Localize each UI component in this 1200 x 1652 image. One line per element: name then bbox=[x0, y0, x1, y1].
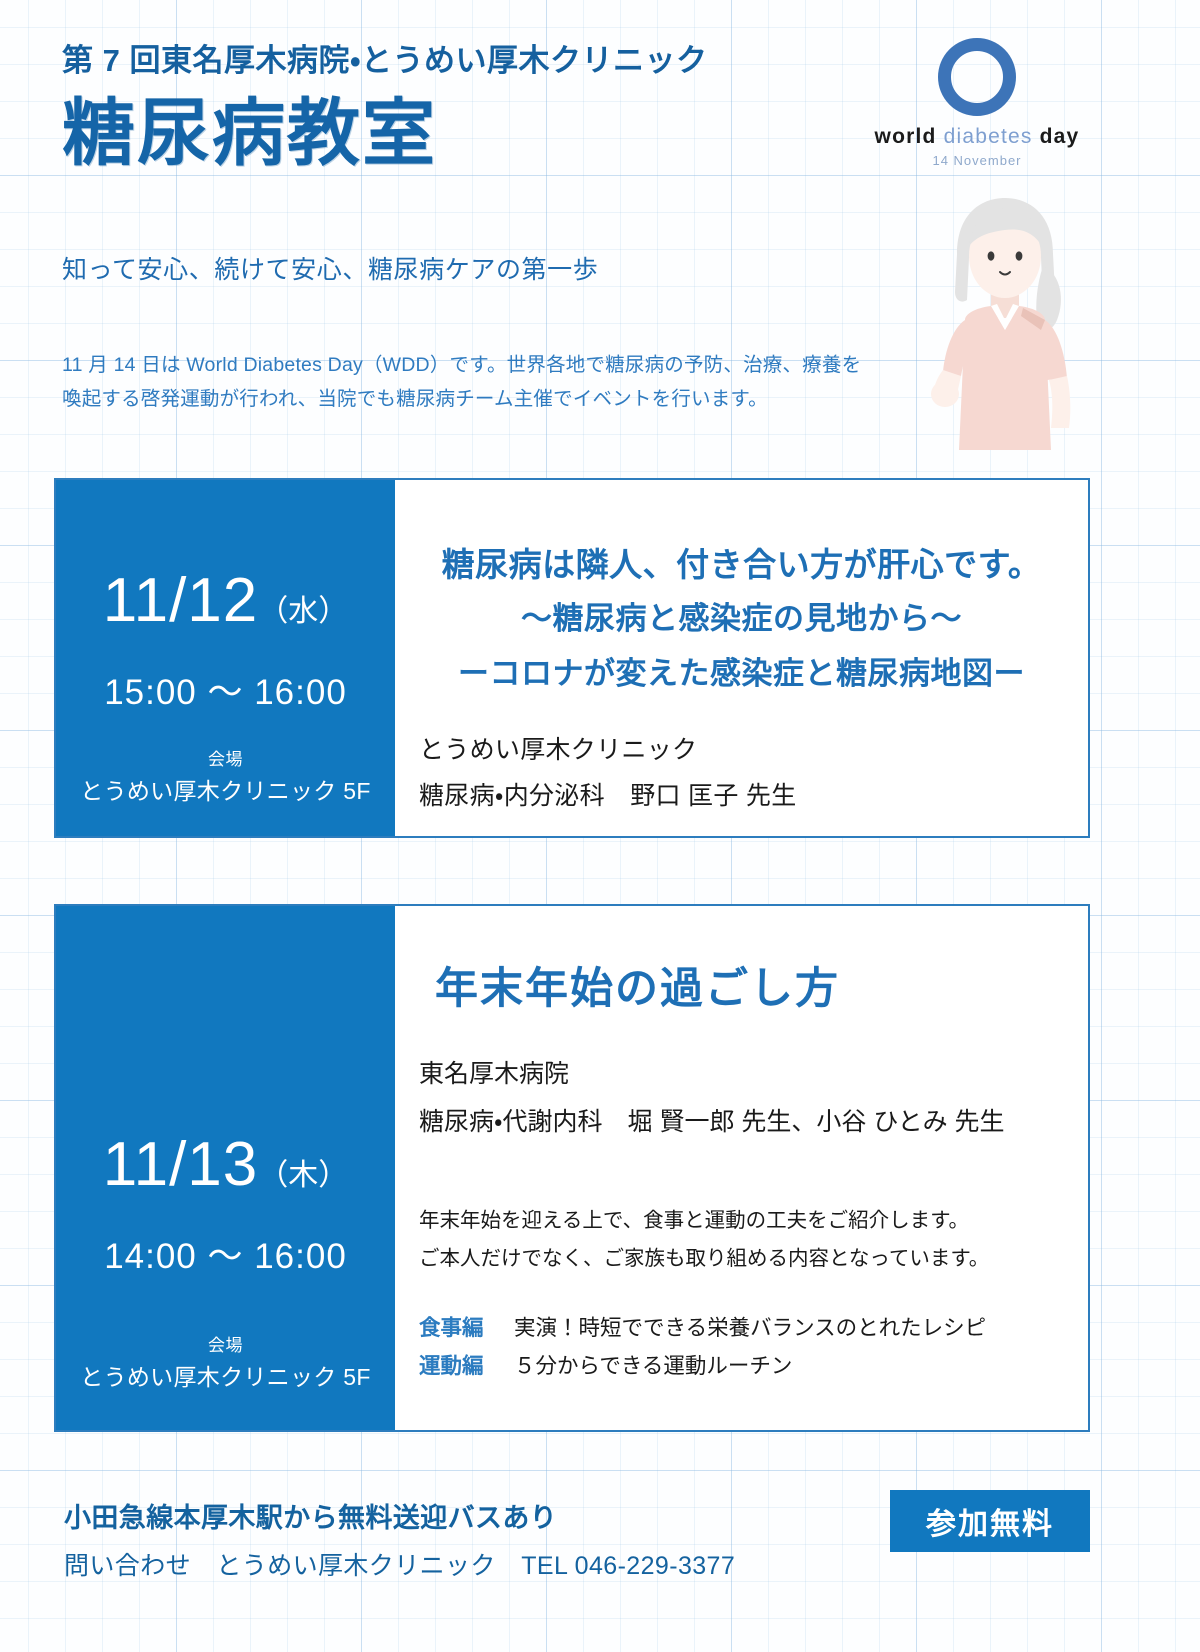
event-card-1: 11/12（水） 15:00 ～ 16:00 会場 とうめい厚木クリニック 5F… bbox=[54, 478, 1090, 838]
poster-root: 第 7 回東名厚木病院・とうめい厚木クリニック 糖尿病教室 知って安心、続けて安… bbox=[0, 0, 1200, 1652]
logo-word-world: world bbox=[875, 125, 937, 148]
logo-date: 14 November bbox=[862, 153, 1092, 168]
lead-line-1: 11 月 14 日は World Diabetes Day（WDD）です。世界各… bbox=[62, 348, 882, 382]
event-2-desc-line-2: ご本人だけでなく、ご家族も取り組める内容となっています。 bbox=[419, 1240, 989, 1278]
event-1-venue-name: とうめい厚木クリニック 5F bbox=[56, 772, 395, 806]
program-item-text: ５分からできる運動ルーチン bbox=[514, 1348, 792, 1386]
blue-circle-icon bbox=[938, 38, 1016, 116]
event-2-desc-line-1: 年末年始を迎える上で、食事と運動の工夫をご紹介します。 bbox=[419, 1202, 989, 1240]
program-item-text: 実演！時短でできる栄養バランスのとれたレシピ bbox=[514, 1310, 986, 1348]
program-item-tag: 運動編 bbox=[419, 1348, 514, 1386]
event-2-date-panel: 11/13（木） 14:00 ～ 16:00 会場 とうめい厚木クリニック 5F bbox=[56, 906, 395, 1430]
logo-word-diabetes: diabetes bbox=[944, 125, 1033, 148]
free-admission-badge: 参加無料 bbox=[890, 1490, 1090, 1552]
lead-paragraph: 11 月 14 日は World Diabetes Day（WDD）です。世界各… bbox=[62, 348, 882, 416]
event-2-day-of-week: （木） bbox=[258, 1159, 348, 1192]
event-2-venue-label: 会場 bbox=[56, 1331, 395, 1356]
event-2-title: 年末年始の過ごし方 bbox=[435, 954, 840, 1016]
event-1-detail-panel: 糖尿病は隣人、付き合い方が肝心です。 〜糖尿病と感染症の見地から〜 ーコロナが変… bbox=[395, 480, 1088, 836]
event-1-organization: とうめい厚木クリニック bbox=[419, 730, 697, 766]
footer-access-info: 小田急線本厚木駅から無料送迎バスあり bbox=[64, 1496, 557, 1535]
event-1-time: 15:00 ～ 16:00 bbox=[56, 664, 395, 715]
event-2-date-text: 11/13 bbox=[103, 1130, 259, 1199]
lead-line-2: 喚起する啓発運動が行われ、当院でも糖尿病チーム主催でイベントを行います。 bbox=[62, 382, 882, 416]
event-1-title-line-2: 〜糖尿病と感染症の見地から〜 bbox=[395, 593, 1088, 638]
event-1-title-line-3: ーコロナが変えた感染症と糖尿病地図ー bbox=[395, 648, 1088, 693]
event-1-venue-label: 会場 bbox=[56, 745, 395, 770]
event-card-2: 11/13（木） 14:00 ～ 16:00 会場 とうめい厚木クリニック 5F… bbox=[54, 904, 1090, 1432]
event-2-venue-name: とうめい厚木クリニック 5F bbox=[56, 1358, 395, 1392]
tagline: 知って安心、続けて安心、糖尿病ケアの第一歩 bbox=[62, 250, 598, 286]
event-1-speakers: 糖尿病・内分泌科 野口 匡子 先生 bbox=[419, 776, 797, 812]
event-1-day-of-week: （水） bbox=[258, 595, 348, 628]
event-1-date-panel: 11/12（水） 15:00 ～ 16:00 会場 とうめい厚木クリニック 5F bbox=[56, 480, 395, 836]
program-item: 運動編 ５分からできる運動ルーチン bbox=[419, 1348, 986, 1386]
program-item: 食事編 実演！時短でできる栄養バランスのとれたレシピ bbox=[419, 1310, 986, 1348]
event-2-organization: 東名厚木病院 bbox=[419, 1054, 569, 1090]
world-diabetes-day-logo: world diabetes day 14 November bbox=[862, 38, 1092, 168]
event-2-detail-panel: 年末年始の過ごし方 東名厚木病院 糖尿病・代謝内科 堀 賢一郎 先生、小谷 ひと… bbox=[395, 906, 1088, 1430]
nurse-illustration-icon bbox=[905, 188, 1105, 450]
footer-contact-info: 問い合わせ とうめい厚木クリニック TEL 046-229-3377 bbox=[64, 1546, 735, 1582]
logo-wordmark: world diabetes day bbox=[862, 125, 1092, 149]
event-2-program-list: 食事編 実演！時短でできる栄養バランスのとれたレシピ 運動編 ５分からできる運動… bbox=[419, 1310, 986, 1385]
event-2-date: 11/13（木） bbox=[56, 1134, 395, 1196]
event-2-speakers: 糖尿病・代謝内科 堀 賢一郎 先生、小谷 ひとみ 先生 bbox=[419, 1102, 1005, 1138]
logo-word-day: day bbox=[1040, 125, 1080, 148]
event-1-title-line-1: 糖尿病は隣人、付き合い方が肝心です。 bbox=[395, 538, 1088, 586]
event-1-date: 11/12（水） bbox=[56, 570, 395, 632]
event-2-description: 年末年始を迎える上で、食事と運動の工夫をご紹介します。 ご本人だけでなく、ご家族… bbox=[419, 1202, 989, 1278]
program-item-tag: 食事編 bbox=[419, 1310, 514, 1348]
event-2-time: 14:00 ～ 16:00 bbox=[56, 1228, 395, 1279]
event-1-date-text: 11/12 bbox=[103, 566, 259, 635]
